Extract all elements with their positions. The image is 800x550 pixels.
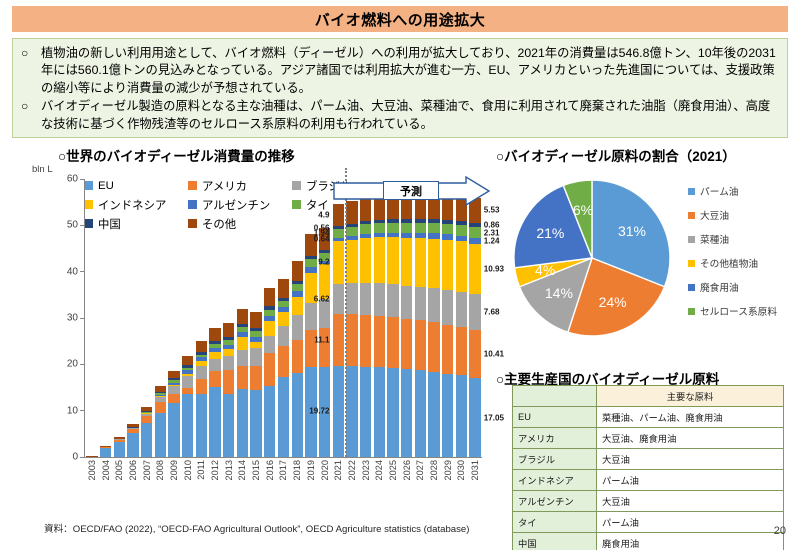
table-cell-country: EU [513,407,597,428]
bar-segment [401,238,412,286]
pie-legend-color-swatch-icon [688,188,695,195]
bar-segment: 4.9 [333,204,344,227]
bar-segment [237,389,248,457]
x-axis-tick-label: 2022 [347,460,357,480]
bar-segment [250,390,261,457]
bar-segment [360,367,371,457]
bar-segment [127,433,138,457]
bar-segment [141,423,152,457]
bar-segment [278,279,289,298]
bar-segment: 2.31 [469,227,480,238]
bar-segment [196,379,207,395]
x-axis-tick-label: 2020 [320,460,330,480]
bar-segment [387,223,398,233]
bar-segment: 7.68 [469,294,480,330]
bar-segment [155,413,166,457]
bar-column-2009[interactable]: 2009 [167,180,181,457]
bar-segment [374,367,385,457]
table-cell-material: パーム油 [597,512,784,533]
y-axis-tick: 0 [72,452,85,463]
bar-column-2021[interactable]: 4.90.561.940.649.26.6211.119.722021 [331,180,345,457]
x-axis-tick-label: 2017 [278,460,288,480]
bar-segment [442,374,453,457]
biodiesel-consumption-chart: bln L EUアメリカブラジルインドネシアアルゼンチンタイ中国その他 2003… [30,164,490,514]
bar-segment [223,394,234,457]
table-cell-country: タイ [513,512,597,533]
bar-column-2015[interactable]: 2015 [249,180,263,457]
bar-data-label: 9.2 [318,258,329,267]
bar-segment [292,297,303,316]
pie-legend-label: パーム油 [700,184,738,198]
bar-series-container: 2003200420052006200720082009201020112012… [85,180,482,457]
bar-column-2024[interactable]: 2024 [372,180,386,457]
bar-segment [305,303,316,330]
bar-segment [428,322,439,372]
y-axis-tick: 30 [67,313,85,324]
bar-segment [264,353,275,385]
x-axis-tick-label: 2014 [237,460,247,480]
bar-segment [264,321,275,336]
bar-chart-heading: ○世界のバイオディーゼル消費量の推移 [58,145,295,165]
slide-root: バイオ燃料への用途拡大 ○ 植物油の新しい利用用途として、バイオ燃料（ディーゼル… [0,0,800,550]
bar-segment [209,387,220,457]
bar-segment [182,356,193,365]
bar-segment [401,369,412,457]
y-axis-tick: 10 [67,405,85,416]
bar-segment [182,394,193,457]
bar-segment: 1.94 [333,229,344,238]
feedstock-share-pie-chart: 31%24%14%4%21%6% パーム油大豆油菜種油その他植物油廃食用油セルロ… [496,166,796,356]
bar-segment [278,326,289,346]
pie-legend-label: 菜種油 [700,232,729,246]
summary-paragraph-1: ○ 植物油の新しい利用用途として、バイオ燃料（ディーゼル）への利用が拡大しており… [21,45,777,97]
bar-segment [237,337,248,350]
bar-segment [428,372,439,457]
bar-segment [305,259,316,267]
bar-segment [250,348,261,366]
table-cell-material: パーム油 [597,470,784,491]
bar-segment [415,320,426,370]
bar-column-2022[interactable]: 2022 [345,180,359,457]
y-axis-tick: 40 [67,266,85,277]
bar-column-2030[interactable]: 2030 [455,180,469,457]
forecast-arrow-banner: 予測 [333,176,491,206]
bar-data-label: 11.1 [314,335,329,344]
page-number: 20 [774,525,786,537]
bar-segment [292,284,303,291]
table-row: 中国廃食用油 [513,533,784,550]
bar-column-2031[interactable]: 5.530.862.311.2410.937.6810.4117.052031 [468,180,482,457]
bar-column-2016[interactable]: 2016 [263,180,277,457]
pie-legend-item-5[interactable]: セルロース系原料 [688,304,777,318]
table-cell-country: インドネシア [513,470,597,491]
bar-segment [346,227,357,236]
table-cell-country: アルゼンチン [513,491,597,512]
bar-segment [264,336,275,354]
x-axis-tick-label: 2019 [306,460,316,480]
bar-segment [292,373,303,457]
bullet-marker: ○ [21,45,41,97]
bar-data-label: 6.62 [314,294,330,303]
bar-segment [401,223,412,233]
bar-segment: 6.62 [333,284,344,315]
bar-column-2004[interactable]: 2004 [99,180,113,457]
bar-segment [278,312,289,326]
table-row: アルゼンチン大豆油 [513,491,784,512]
pie-chart-heading: ○バイオディーゼル原料の割合（2021） [496,145,736,165]
x-axis-tick-label: 2016 [265,460,275,480]
pie-legend-color-swatch-icon [688,236,695,243]
table-cell-country: 中国 [513,533,597,550]
x-axis-tick-label: 2021 [333,460,343,480]
bar-segment [456,241,467,292]
table-cell-material: 大豆油、廃食用油 [597,428,784,449]
bar-data-label: 19.72 [309,407,329,416]
bar-segment [250,312,261,328]
bar-segment [223,349,234,356]
x-axis-tick-label: 2023 [361,460,371,480]
x-axis-tick-label: 2018 [292,460,302,480]
bar-segment [374,316,385,367]
x-axis-tick-label: 2025 [388,460,398,480]
pie-legend-label: セルロース系原料 [700,304,777,318]
bar-segment [223,370,234,394]
bullet-marker: ○ [21,98,41,133]
pie-graphic: 31%24%14%4%21%6% [512,178,672,338]
bar-segment [292,261,303,282]
x-axis-tick-label: 2004 [101,460,111,480]
bar-segment: 11.1 [333,314,344,365]
table-row: アメリカ大豆油、廃食用油 [513,428,784,449]
bar-column-2012[interactable]: 2012 [208,180,222,457]
bar-segment [374,223,385,233]
bar-segment [442,290,453,325]
bar-segment [100,448,111,457]
bar-segment [360,238,371,283]
x-axis-tick-label: 2027 [415,460,425,480]
bar-segment [387,317,398,368]
bar-segment [264,386,275,457]
bar-column-2027[interactable]: 2027 [414,180,428,457]
bar-column-2008[interactable]: 2008 [153,180,167,457]
bar-segment [155,402,166,413]
bar-column-2028[interactable]: 2028 [427,180,441,457]
bar-segment [415,223,426,233]
bar-segment [209,328,220,341]
bar-segment [319,328,330,367]
x-axis-tick-label: 2029 [443,460,453,480]
bar-segment [196,366,207,379]
forecast-label: 予測 [383,181,439,200]
bar-column-2029[interactable]: 2029 [441,180,455,457]
pie-legend-label: 大豆油 [700,208,729,222]
bar-segment [401,319,412,370]
x-axis-tick-label: 2009 [169,460,179,480]
bar-data-label: 0.64 [314,235,330,244]
table-row: ブラジル大豆油 [513,449,784,470]
pie-legend-item-4[interactable]: 廃食用油 [688,280,777,294]
x-axis-tick-label: 2031 [470,460,480,480]
bar-segment [223,323,234,337]
slide-title-banner: バイオ燃料への用途拡大 [12,6,788,32]
bar-chart-plot-area: 2003200420052006200720082009201020112012… [84,180,482,458]
bar-segment: 10.93 [469,244,480,295]
x-axis-tick-label: 2030 [456,460,466,480]
pie-legend-color-swatch-icon [688,212,695,219]
bar-segment [428,239,439,288]
x-axis-tick-label: 2024 [374,460,384,480]
bar-segment [114,442,125,457]
summary-paragraph-2: ○ バイオディーゼル製造の原料となる主な油種は、パーム油、大豆油、菜種油で、食用… [21,98,777,133]
pie-legend-color-swatch-icon [688,260,695,267]
bar-segment: 17.05 [469,378,480,457]
bar-segment [209,371,220,387]
pie-legend-color-swatch-icon [688,308,695,315]
bar-column-2017[interactable]: 2017 [277,180,291,457]
summary-text-2: バイオディーゼル製造の原料となる主な油種は、パーム油、大豆油、菜種油で、食用に利… [41,98,777,133]
bar-segment [86,456,97,457]
x-axis-tick-label: 2005 [114,460,124,480]
bar-segment [346,283,357,314]
bar-column-2025[interactable]: 2025 [386,180,400,457]
bar-segment: 10.41 [469,330,480,378]
bar-segment [168,403,179,457]
pie-legend-item-1[interactable]: 大豆油 [688,208,777,222]
bar-segment [456,327,467,376]
bar-segment [387,284,398,317]
bar-segment [456,292,467,327]
bar-column-2014[interactable]: 2014 [236,180,250,457]
x-axis-tick-label: 2007 [142,460,152,480]
bar-segment [237,309,248,324]
x-axis-tick-label: 2012 [210,460,220,480]
bar-segment [250,366,261,390]
bar-segment [292,340,303,372]
table-cell-material: 大豆油 [597,449,784,470]
pie-chart-legend: パーム油大豆油菜種油その他植物油廃食用油セルロース系原料 [688,184,777,328]
bar-column-2005[interactable]: 2005 [112,180,126,457]
bar-column-2006[interactable]: 2006 [126,180,140,457]
bar-segment [428,223,439,233]
y-axis-tick: 50 [67,220,85,231]
bar-segment [346,366,357,457]
bar-column-2011[interactable]: 2011 [195,180,209,457]
forecast-divider [345,168,347,457]
table-row: タイパーム油 [513,512,784,533]
major-producers-table-wrap: 主要な原料 EU菜種油、パーム油、廃食用油アメリカ大豆油、廃食用油ブラジル大豆油… [512,385,784,550]
bar-segment [415,287,426,321]
bar-column-2023[interactable]: 2023 [359,180,373,457]
bar-segment [237,366,248,389]
y-axis-tick: 20 [67,359,85,370]
bar-segment [168,394,179,403]
bar-segment [278,346,289,377]
pie-legend-item-3[interactable]: その他植物油 [688,256,777,270]
table-corner-cell [513,386,597,407]
y-axis-tick: 60 [67,174,85,185]
bar-segment [264,288,275,306]
table-row: インドネシアパーム油 [513,470,784,491]
bar-data-label: 17.05 [484,413,504,422]
table-header-row: 主要な原料 [513,386,784,407]
x-axis-tick-label: 2008 [155,460,165,480]
bar-segment [456,375,467,457]
bar-column-2018[interactable]: 2018 [290,180,304,457]
bar-segment: 9.2 [333,241,344,284]
bar-segment [196,394,207,457]
x-axis-tick-label: 2015 [251,460,261,480]
bar-segment [442,240,453,290]
bar-segment [346,314,357,366]
major-producers-table: 主要な原料 EU菜種油、パーム油、廃食用油アメリカ大豆油、廃食用油ブラジル大豆油… [512,385,784,550]
x-axis-tick-label: 2013 [224,460,234,480]
x-axis-tick-label: 2006 [128,460,138,480]
bar-column-2013[interactable]: 2013 [222,180,236,457]
bar-column-2003[interactable]: 2003 [85,180,99,457]
bar-segment [387,237,398,284]
source-note: 資料：OECD/FAO (2022), “OECD-FAO Agricultur… [44,521,469,535]
pie-legend-color-swatch-icon [688,284,695,291]
table-cell-country: アメリカ [513,428,597,449]
bar-segment [292,315,303,340]
table-row: EU菜種油、パーム油、廃食用油 [513,407,784,428]
bar-column-2010[interactable]: 2010 [181,180,195,457]
x-axis-tick-label: 2003 [87,460,97,480]
table-header-material: 主要な原料 [597,386,784,407]
bar-segment [401,286,412,319]
bar-data-label: 4.9 [318,211,329,220]
bar-segment [209,359,220,372]
bar-segment [237,350,248,366]
bar-segment [374,283,385,315]
page-title: バイオ燃料への用途拡大 [315,9,486,30]
summary-text-1: 植物油の新しい利用用途として、バイオ燃料（ディーゼル）への利用が拡大しており、2… [41,45,777,97]
bar-segment [456,225,467,236]
table-cell-material: 大豆油 [597,491,784,512]
bar-segment [196,341,207,352]
pie-legend-label: 廃食用油 [700,280,739,294]
x-axis-tick-label: 2010 [183,460,193,480]
bar-segment [415,238,426,287]
bar-column-2026[interactable]: 2026 [400,180,414,457]
bar-segment [278,377,289,457]
pie-legend-label: その他植物油 [700,256,758,270]
bar-segment [360,283,371,315]
table-cell-country: ブラジル [513,449,597,470]
table-cell-material: 菜種油、パーム油、廃食用油 [597,407,784,428]
bar-segment: 19.72 [333,366,344,457]
bar-segment [141,416,152,423]
bar-segment [346,240,357,284]
bar-segment [182,376,193,387]
bar-segment [168,371,179,378]
y-axis-unit-label: bln L [32,164,53,175]
bar-segment [360,315,371,367]
x-axis-tick-label: 2028 [429,460,439,480]
bar-segment [374,237,385,283]
bar-segment [168,386,179,393]
bar-column-2007[interactable]: 2007 [140,180,154,457]
pie-legend-item-2[interactable]: 菜種油 [688,232,777,246]
bar-segment [428,288,439,322]
bar-segment [387,368,398,457]
bar-segment [442,325,453,374]
bar-segment [415,370,426,457]
table-cell-material: 廃食用油 [597,533,784,550]
bar-segment [360,224,371,233]
bar-segment [223,356,234,369]
bar-segment [442,224,453,234]
x-axis-tick-label: 2011 [196,460,206,480]
summary-textbox: ○ 植物油の新しい利用用途として、バイオ燃料（ディーゼル）への利用が拡大しており… [12,38,788,138]
x-axis-tick-label: 2026 [402,460,412,480]
pie-legend-item-0[interactable]: パーム油 [688,184,777,198]
